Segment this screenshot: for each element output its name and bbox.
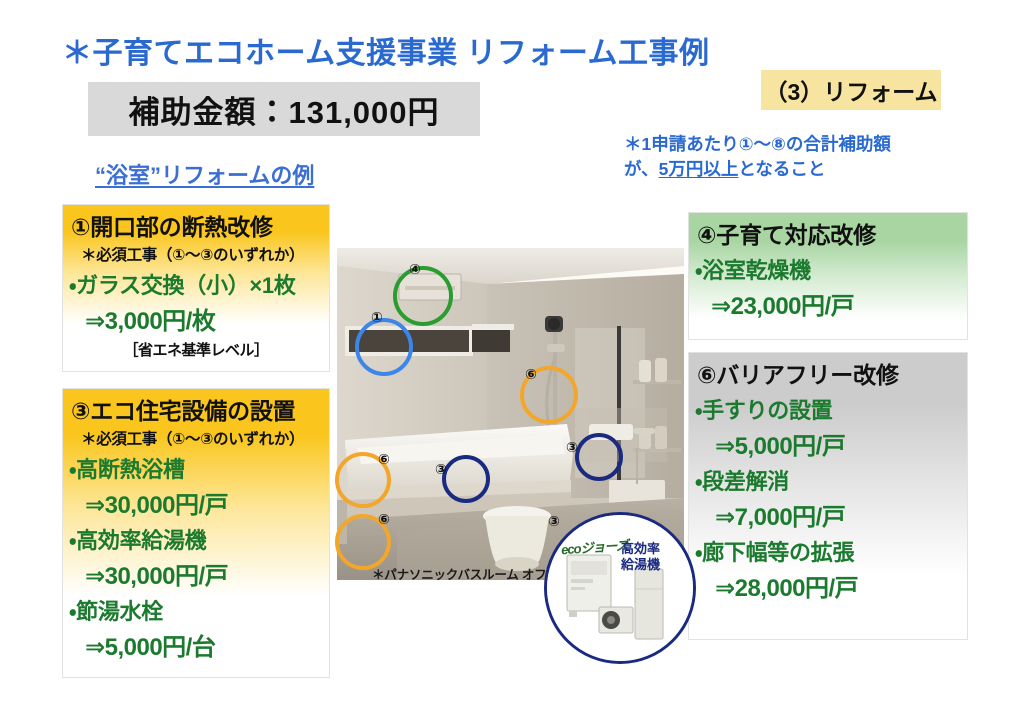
measure-box-3-required-note: ＊必須工事（①～③のいずれか） bbox=[63, 427, 329, 449]
photo-marker-3-tub: ③ bbox=[435, 462, 447, 476]
measure-box-3-item-1-value: ⇒30,000円/戸 bbox=[63, 485, 329, 520]
note-suffix: となること bbox=[738, 159, 825, 179]
measure-box-4-item-1-value: ⇒23,000円/戸 bbox=[689, 286, 967, 321]
annotation-ring-3-tub bbox=[442, 455, 490, 503]
note-prefix: が、 bbox=[624, 159, 659, 179]
photo-marker-6-tub: ⑥ bbox=[378, 452, 390, 466]
measure-box-6-item-3-value: ⇒28,000円/戸 bbox=[689, 568, 967, 603]
measure-box-3-item-3-value: ⇒5,000円/台 bbox=[63, 627, 329, 662]
water-heater-label: 高効率 給湯機 bbox=[621, 541, 660, 574]
note-threshold: 5万円以上 bbox=[659, 159, 739, 179]
section-badge: （3）リフォーム bbox=[761, 70, 941, 110]
water-heater-label-line1: 高効率 bbox=[621, 541, 660, 557]
page-title: ＊子育てエコホーム支援事業 リフォーム工事例 bbox=[62, 28, 710, 72]
measure-box-4-item-1-name: ・浴室乾燥機 bbox=[689, 253, 967, 285]
measure-box-3-item-2-name: ・高効率給湯機 bbox=[63, 523, 329, 555]
slide-root: ＊子育てエコホーム支援事業 リフォーム工事例 補助金額：131,000円 （3）… bbox=[0, 0, 1024, 721]
measure-box-3: ③エコ住宅設備の設置 ＊必須工事（①～③のいずれか） ・高断熱浴槽 ⇒30,00… bbox=[62, 388, 330, 678]
measure-box-6-item-2-value: ⇒7,000円/戸 bbox=[689, 497, 967, 532]
subsidy-amount-box: 補助金額：131,000円 bbox=[88, 82, 480, 136]
measure-box-4: ④子育て対応改修 ・浴室乾燥機 ⇒23,000円/戸 bbox=[688, 212, 968, 340]
measure-box-6-item-1-name: ・手すりの設置 bbox=[689, 393, 967, 425]
eligibility-note-line2: が、5万円以上となること bbox=[624, 157, 984, 182]
annotation-ring-1 bbox=[355, 318, 413, 376]
measure-box-6: ⑥バリアフリー改修 ・手すりの設置 ⇒5,000円/戸 ・段差解消 ⇒7,000… bbox=[688, 352, 968, 640]
measure-box-1-footer: ［省エネ基準レベル］ bbox=[63, 339, 329, 360]
measure-box-1-required-note: ＊必須工事（①～③のいずれか） bbox=[63, 243, 329, 265]
annotation-ring-3-faucet bbox=[575, 433, 623, 481]
measure-box-4-heading: ④子育て対応改修 bbox=[689, 213, 967, 250]
water-heater-label-line2: 給湯機 bbox=[621, 557, 660, 573]
measure-box-3-item-3-name: ・節湯水栓 bbox=[63, 594, 329, 626]
measure-box-3-heading: ③エコ住宅設備の設置 bbox=[63, 389, 329, 426]
section-badge-label: （3）リフォーム bbox=[764, 73, 937, 107]
eco-jaws-logo-text: ecoジョーズ bbox=[561, 538, 629, 558]
subsidy-amount-text: 補助金額：131,000円 bbox=[128, 87, 439, 132]
photo-marker-4: ④ bbox=[409, 262, 421, 276]
photo-marker-1: ① bbox=[371, 310, 383, 324]
measure-box-6-item-1-value: ⇒5,000円/戸 bbox=[689, 426, 967, 461]
photo-marker-6-shower: ⑥ bbox=[525, 367, 537, 381]
photo-marker-6-apron: ⑥ bbox=[378, 512, 390, 526]
measure-box-3-item-2-value: ⇒30,000円/戸 bbox=[63, 556, 329, 591]
photo-marker-3-heater: ③ bbox=[548, 514, 560, 528]
annotation-ring-4 bbox=[393, 266, 453, 326]
section-subtitle: “浴室”リフォームの例 bbox=[95, 158, 314, 190]
eligibility-note: ＊1申請あたり①～⑧の合計補助額 が、5万円以上となること bbox=[624, 132, 984, 183]
water-heater-inset: ecoジョーズ 高効率 給湯機 bbox=[544, 512, 696, 664]
measure-box-3-item-1-name: ・高断熱浴槽 bbox=[63, 452, 329, 484]
measure-box-1-item-1-value: ⇒3,000円/枚 bbox=[63, 301, 329, 336]
measure-box-6-heading: ⑥バリアフリー改修 bbox=[689, 353, 967, 390]
measure-box-1-item-1-name: ・ガラス交換（小）×1枚 bbox=[63, 268, 329, 300]
eligibility-note-line1: ＊1申請あたり①～⑧の合計補助額 bbox=[624, 132, 984, 157]
measure-box-1: ①開口部の断熱改修 ＊必須工事（①～③のいずれか） ・ガラス交換（小）×1枚 ⇒… bbox=[62, 204, 330, 372]
photo-marker-3-faucet: ③ bbox=[566, 440, 578, 454]
measure-box-6-item-2-name: ・段差解消 bbox=[689, 464, 967, 496]
measure-box-6-item-3-name: ・廊下幅等の拡張 bbox=[689, 535, 967, 567]
measure-box-1-heading: ①開口部の断熱改修 bbox=[63, 205, 329, 242]
